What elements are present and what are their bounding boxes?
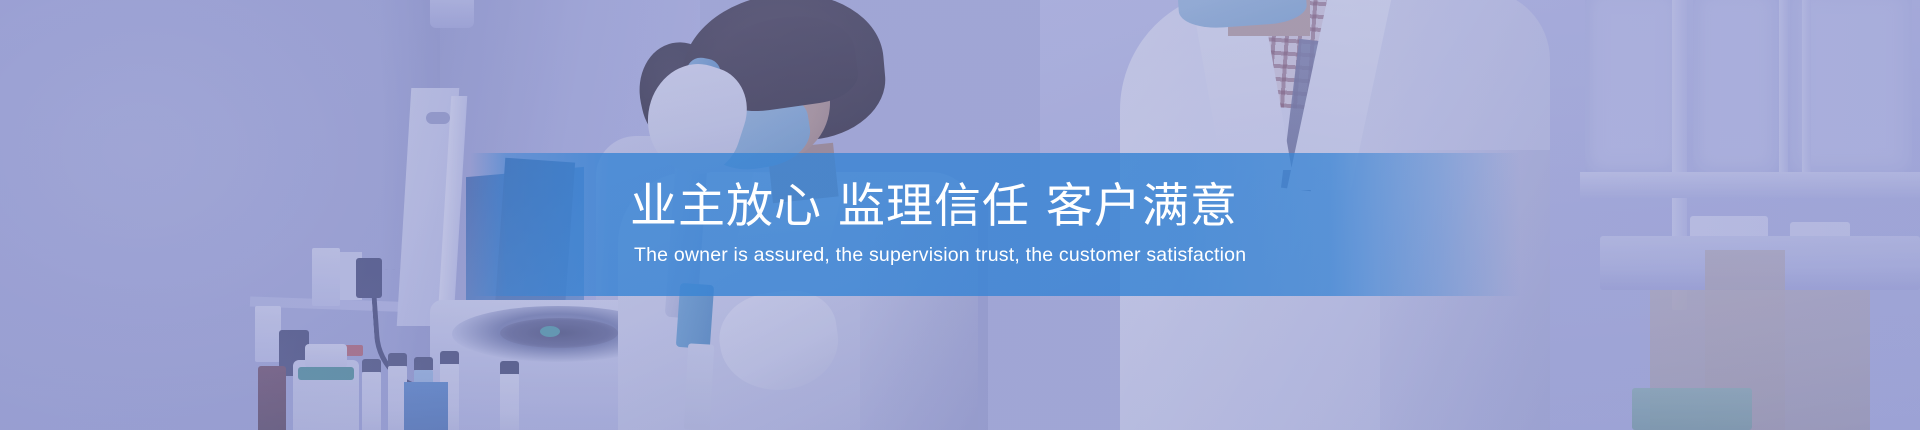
sample-cap xyxy=(540,326,560,337)
window-mullion xyxy=(1802,0,1811,180)
window-pane xyxy=(1693,0,1779,174)
vial-cap xyxy=(500,361,519,374)
sample-vial xyxy=(362,372,381,430)
wall-outlet xyxy=(312,248,340,306)
bottle-cap xyxy=(305,344,347,368)
window-pane xyxy=(1585,0,1681,174)
reagent-bottle xyxy=(258,366,286,430)
vial-cap xyxy=(440,351,459,364)
banner-caption: 业主放心 监理信任 客户满意 The owner is assured, the… xyxy=(630,176,1530,268)
monitor-screen-side xyxy=(495,158,575,313)
equipment-knob xyxy=(426,112,450,124)
pipette-tip xyxy=(684,343,714,430)
vial-cap xyxy=(388,353,407,366)
ceiling-fixture xyxy=(430,0,474,28)
sample-tray xyxy=(404,382,448,430)
sample-vial xyxy=(500,374,519,430)
wall-outlet xyxy=(255,306,281,362)
banner-subheadline: The owner is assured, the supervision tr… xyxy=(634,242,1530,268)
banner-headline: 业主放心 监理信任 客户满意 xyxy=(630,176,1530,238)
window-sill xyxy=(1580,172,1920,198)
window-mullion xyxy=(1779,0,1788,180)
power-plug xyxy=(356,258,382,298)
pipette-grip xyxy=(676,283,714,349)
vial-cap xyxy=(362,359,381,372)
green-container xyxy=(1632,388,1752,430)
hero-banner: 业主放心 监理信任 客户满意 The owner is assured, the… xyxy=(0,0,1920,430)
bottle-label-ring xyxy=(298,367,354,380)
vial-cap xyxy=(414,357,433,370)
